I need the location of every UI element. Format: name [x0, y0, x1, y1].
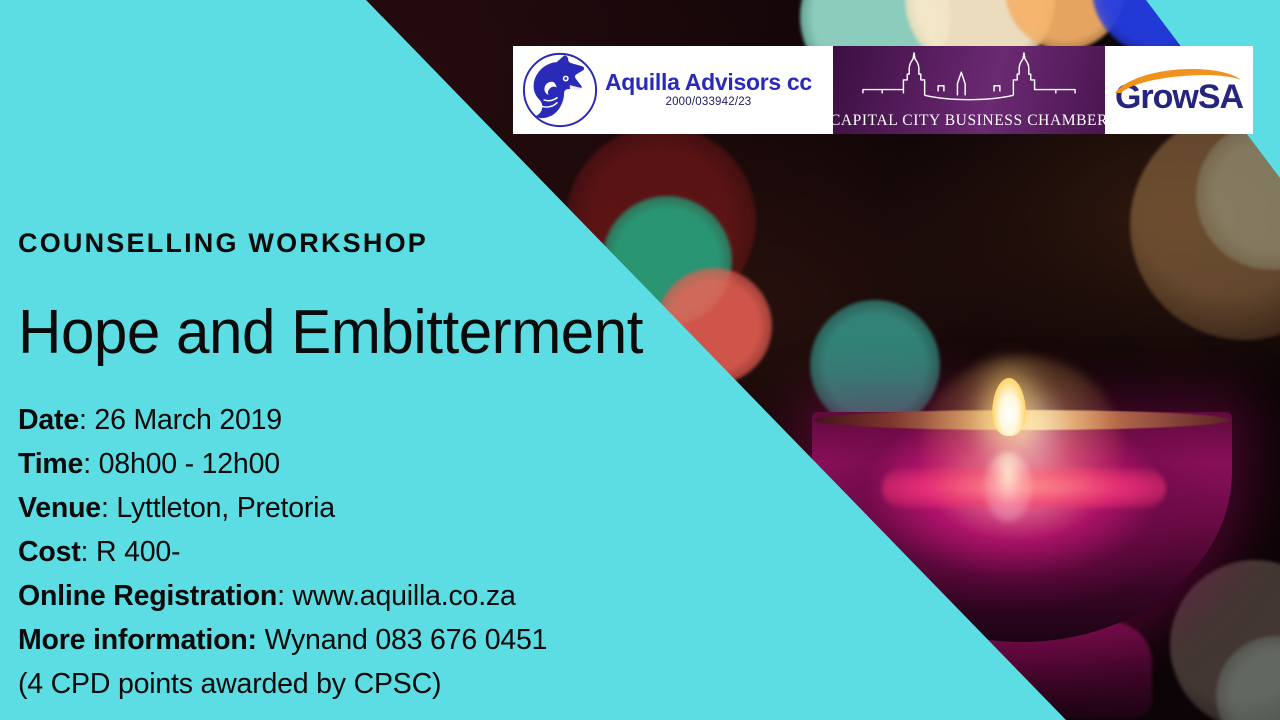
detail-value-online-registration[interactable]: www.aquilla.co.za [293, 580, 516, 612]
detail-line-cost: Cost: R 400- [18, 530, 547, 574]
detail-value-date: 26 March 2019 [94, 404, 282, 436]
page-title: Hope and Embitterment [18, 300, 643, 367]
detail-label-time: Time [18, 448, 83, 480]
orange-arc-icon [1113, 60, 1243, 94]
logo-aquilla-advisors[interactable]: Aquilla Advisors cc 2000/033942/23 [513, 46, 833, 134]
union-buildings-skyline-icon [850, 51, 1088, 110]
detail-value-cpd-note: (4 CPD points awarded by CPSC) [18, 668, 441, 700]
detail-line-online-registration: Online Registration: www.aquilla.co.za [18, 574, 547, 618]
page-kicker: COUNSELLING WORKSHOP [18, 228, 428, 259]
detail-sep-time: : [83, 448, 98, 480]
detail-label-more-information: More information: [18, 624, 257, 656]
detail-label-venue: Venue [18, 492, 101, 524]
logo-capital-city-business-chamber[interactable]: CAPITAL CITY BUSINESS CHAMBER [833, 46, 1105, 134]
chamber-name-label: CAPITAL CITY BUSINESS CHAMBER [833, 112, 1105, 130]
detail-value-more-information: Wynand 083 676 0451 [265, 624, 548, 656]
detail-value-venue: Lyttleton, Pretoria [116, 492, 335, 524]
detail-line-date: Date: 26 March 2019 [18, 398, 547, 442]
eagle-head-icon [519, 49, 601, 131]
detail-sep-venue: : [101, 492, 116, 524]
detail-label-cost: Cost [18, 536, 81, 568]
detail-value-cost: R 400- [96, 536, 180, 568]
detail-line-venue: Venue: Lyttleton, Pretoria [18, 486, 547, 530]
candle-flame-halo [922, 356, 1122, 536]
detail-line-cpd-note: (4 CPD points awarded by CPSC) [18, 662, 547, 706]
detail-label-date: Date [18, 404, 79, 436]
sponsor-logo-strip: Aquilla Advisors cc 2000/033942/23 [513, 46, 1253, 134]
poster-canvas: Aquilla Advisors cc 2000/033942/23 [0, 0, 1280, 720]
aquilla-name-label: Aquilla Advisors cc [605, 71, 812, 94]
event-details-list: Date: 26 March 2019 Time: 08h00 - 12h00 … [18, 398, 547, 706]
detail-value-time: 08h00 - 12h00 [99, 448, 280, 480]
detail-label-online-registration: Online Registration [18, 580, 277, 612]
logo-growsa[interactable]: GrowSA [1105, 46, 1253, 134]
detail-sep-date: : [79, 404, 94, 436]
detail-sep-more-information [257, 624, 265, 656]
detail-line-more-information: More information: Wynand 083 676 0451 [18, 618, 547, 662]
detail-sep-cost: : [81, 536, 96, 568]
aquilla-registration-label: 2000/033942/23 [665, 97, 751, 109]
detail-line-time: Time: 08h00 - 12h00 [18, 442, 547, 486]
detail-sep-online-registration: : [277, 580, 292, 612]
